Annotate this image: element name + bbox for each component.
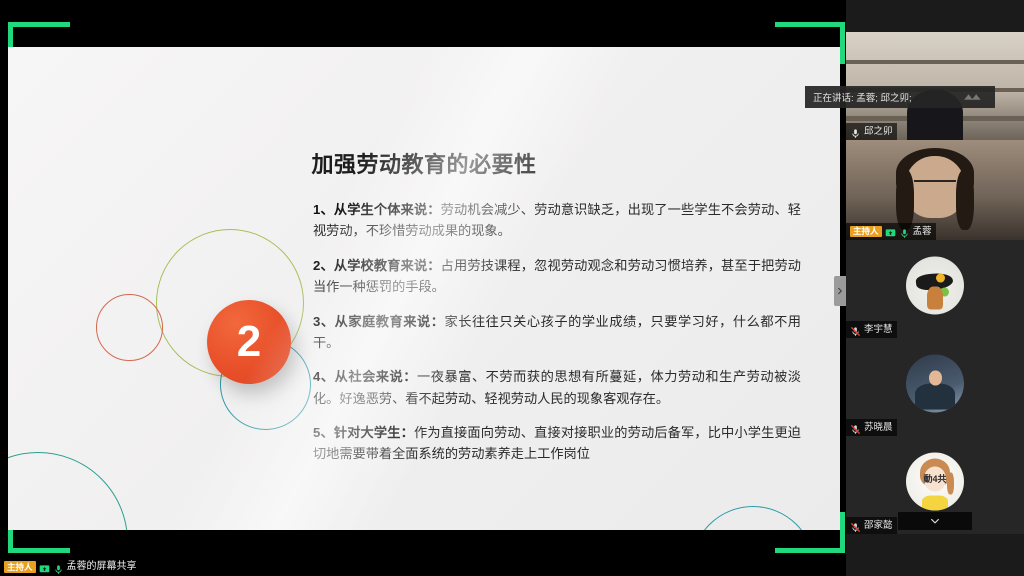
watermark-logo-icon bbox=[963, 91, 985, 102]
microphone-icon bbox=[899, 226, 910, 237]
screen-share-status-bar: 主持人 孟蓉的屏幕共享 bbox=[0, 558, 141, 576]
slide-number-text: 2 bbox=[237, 320, 261, 364]
participant-name: 邱之卯 bbox=[864, 127, 893, 137]
host-badge: 主持人 bbox=[4, 561, 36, 573]
slide-number-badge: 2 bbox=[207, 300, 291, 384]
slide-bullet: 3、从家庭教育来说：家长往往只关心孩子的学业成绩，只要学习好，什么都不用干。 bbox=[313, 311, 801, 354]
participant-tile[interactable]: 動4共 邵家懿 bbox=[846, 436, 1024, 534]
decorative-circle-bottom-teal bbox=[691, 506, 815, 530]
microphone-icon bbox=[850, 126, 861, 137]
slide-bullet: 2、从学校教育来说：占用劳技课程，忽视劳动观念和劳动习惯培养，甚至于把劳动当作一… bbox=[313, 255, 801, 298]
bullet-lead: 5、针对大学生： bbox=[313, 425, 414, 440]
shared-screen-area: 2 加强劳动教育的必要性 1、从学生个体来说：劳动机会减少、劳动意识缺乏，出现了… bbox=[0, 0, 846, 576]
meeting-window: 2 加强劳动教育的必要性 1、从学生个体来说：劳动机会减少、劳动意识缺乏，出现了… bbox=[0, 0, 1024, 576]
active-speaker-banner: 正在讲话: 孟蓉; 邱之卯; bbox=[805, 86, 995, 108]
microphone-muted-icon bbox=[850, 520, 861, 531]
share-border-bottom-left-horizontal bbox=[8, 548, 70, 553]
participant-name: 孟蓉 bbox=[913, 227, 932, 237]
bullet-lead: 2、从学校教育来说： bbox=[313, 258, 441, 273]
share-border-bottom-right-vertical bbox=[840, 512, 845, 553]
share-status-text: 孟蓉的屏幕共享 bbox=[67, 562, 137, 572]
slide-bullet: 4、从社会来说：一夜暴富、不劳而获的思想有所蔓延，体力劳动和生产劳动被淡化。好逸… bbox=[313, 366, 801, 409]
avatar bbox=[906, 355, 964, 413]
bullet-lead: 3、从家庭教育来说： bbox=[313, 314, 444, 329]
presentation-slide: 2 加强劳动教育的必要性 1、从学生个体来说：劳动机会减少、劳动意识缺乏，出现了… bbox=[8, 47, 840, 530]
microphone-icon bbox=[53, 562, 64, 573]
screen-share-icon bbox=[39, 562, 50, 573]
participant-tile[interactable]: 苏晓晨 bbox=[846, 338, 1024, 436]
decorative-circle-large-teal bbox=[8, 452, 128, 530]
chevron-down-icon bbox=[929, 515, 941, 527]
microphone-muted-icon bbox=[850, 422, 861, 433]
slide-bullet: 5、针对大学生：作为直接面向劳动、直接对接职业的劳动后备军，比中小学生更迫切地需… bbox=[313, 422, 801, 465]
screen-share-icon bbox=[885, 226, 896, 237]
participant-badge-row: 邵家懿 bbox=[846, 517, 897, 534]
active-speaker-text: 正在讲话: 孟蓉; 邱之卯; bbox=[813, 90, 912, 104]
avatar bbox=[906, 257, 964, 315]
bullet-lead: 4、从社会来说： bbox=[313, 369, 417, 384]
share-border-top-right-vertical bbox=[840, 22, 845, 64]
participant-badge-row: 邱之卯 bbox=[846, 123, 897, 140]
chevron-right-icon bbox=[836, 287, 844, 295]
bullet-lead: 1、从学生个体来说： bbox=[313, 202, 441, 217]
scroll-down-button[interactable] bbox=[898, 512, 972, 530]
slide-bullet: 1、从学生个体来说：劳动机会减少、劳动意识缺乏，出现了一些学生不会劳动、轻视劳动… bbox=[313, 199, 801, 242]
slide-title: 加强劳动教育的必要性 bbox=[8, 147, 840, 179]
participant-name: 邵家懿 bbox=[864, 521, 893, 531]
participant-badge-row: 苏晓晨 bbox=[846, 419, 897, 436]
share-border-bottom-right-horizontal bbox=[775, 548, 845, 553]
participant-badge-row: 主持人 孟蓉 bbox=[846, 223, 936, 240]
participant-tile[interactable]: 李宇慧 bbox=[846, 240, 1024, 338]
participant-name: 苏晓晨 bbox=[864, 423, 893, 433]
share-border-top-right-horizontal bbox=[775, 22, 845, 27]
participant-tile[interactable]: 主持人 孟蓉 bbox=[846, 140, 1024, 240]
panel-collapse-handle[interactable] bbox=[834, 276, 846, 306]
microphone-muted-icon bbox=[850, 324, 861, 335]
avatar-text: 動4共 bbox=[923, 472, 946, 485]
slide-body: 1、从学生个体来说：劳动机会减少、劳动意识缺乏，出现了一些学生不会劳动、轻视劳动… bbox=[313, 199, 801, 478]
participant-panel: 邱之卯 正在讲话: 孟蓉; 邱之卯; 主持人 bbox=[846, 0, 1024, 576]
host-badge: 主持人 bbox=[850, 226, 882, 238]
decorative-circle-salmon bbox=[96, 294, 163, 361]
participant-name: 李宇慧 bbox=[864, 325, 893, 335]
share-border-top-left-horizontal bbox=[8, 22, 70, 27]
avatar: 動4共 bbox=[906, 453, 964, 511]
participant-badge-row: 李宇慧 bbox=[846, 321, 897, 338]
